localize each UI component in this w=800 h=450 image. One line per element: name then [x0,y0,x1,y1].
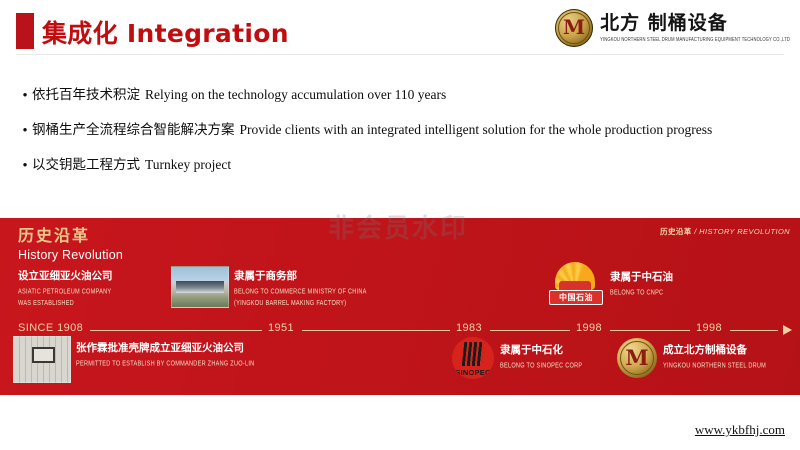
bullet-marker-icon: • [18,84,32,106]
list-item: • 以交钥匙工程方式Turnkey project [18,154,788,176]
page-title: 集成化 Integration [42,14,289,50]
milestone-title-en: BELONG TO SINOPEC CORP [500,361,582,372]
bullet-text-cn: 钢桶生产全流程综合智能解决方案 [32,122,235,138]
factory-photo-thumbnail [171,266,229,308]
milestone-en-line: WAS ESTABLISHED [18,298,113,309]
logo-company-cn: 北方 制桶设备 [600,14,790,34]
timeline-segment [610,330,690,331]
milestone-en-line: (YINGKOU BARREL MAKING FACTORY) [234,298,367,309]
logo-letter: M [563,17,585,37]
history-heading-cn: 历史沿革 [18,226,123,246]
logo-company-en: YINGKOU NORTHERN STEEL DRUM MANUFACTURIN… [600,36,790,43]
milestone-title-cn: 隶属于中石油 [610,271,673,285]
cnpc-wordmark: 中国石油 [549,290,603,305]
milestone-zhang-zuo-lin: 张作霖批准壳牌成立亚细亚火油公司 PERMITTED TO ESTABLISH … [76,342,254,367]
sinopec-wordmark: SINOPEC [452,369,494,377]
history-corner-en: HISTORY REVOLUTION [699,227,790,236]
milestone-en-line: BELONG TO CNPC [610,288,673,299]
timeline-year: SINCE 1908 [18,322,83,334]
history-corner-label: 历史沿革 / HISTORY REVOLUTION [660,226,790,237]
document-photo-thumbnail [13,336,71,383]
logo-medal-icon: M [555,9,593,47]
milestone-cnpc: 隶属于中石油 BELONG TO CNPC [610,271,673,296]
bullet-text: 以交钥匙工程方式Turnkey project [32,154,231,176]
timeline-segment [490,330,570,331]
milestone-en-line: BELONG TO SINOPEC CORP [500,361,582,372]
cnpc-logo-icon: 中国石油 [549,262,601,306]
milestone-title-cn: 隶属于商务部 [234,270,367,284]
title-accent-bar [16,13,34,49]
timeline-arrow-icon [783,325,792,335]
bullet-text-cn: 依托百年技术积淀 [32,87,140,103]
sinopec-bars-icon [462,342,485,366]
timeline-year: 1998 [576,322,602,334]
history-panel: 历史沿革 History Revolution 历史沿革 / HISTORY R… [0,218,800,395]
timeline-year: 1983 [456,322,482,334]
medal-letter: M [625,347,648,368]
milestone-en-line: PERMITTED TO ESTABLISH BY COMMANDER ZHAN… [76,359,254,370]
bullet-text-en: Relying on the technology accumulation o… [145,87,446,102]
list-item: • 依托百年技术积淀Relying on the technology accu… [18,84,788,106]
milestone-title-en: YINGKOU NORTHERN STEEL DRUM [663,361,766,372]
milestone-title-cn: 张作霖批准壳牌成立亚细亚火油公司 [76,342,254,356]
timeline-segment [90,330,262,331]
timeline-axis: SINCE 1908 1951 1983 1998 1998 [0,322,800,338]
milestone-title-en: PERMITTED TO ESTABLISH BY COMMANDER ZHAN… [76,359,254,370]
milestone-title-en: BELONG TO COMMERCE MINISTRY OF CHINA (YI… [234,287,367,309]
bullet-list: • 依托百年技术积淀Relying on the technology accu… [18,84,788,189]
bullet-marker-icon: • [18,154,32,176]
footer-url[interactable]: www.ykbfhj.com [695,422,785,438]
history-heading-en: History Revolution [18,247,123,264]
list-item: • 钢桶生产全流程综合智能解决方案Provide clients with an… [18,119,788,141]
milestone-en-line: ASIATIC PETROLEUM COMPANY [18,287,113,298]
timeline-segment [302,330,450,331]
bullet-text-en: Provide clients with an integrated intel… [240,122,713,137]
milestone-sinopec: 隶属于中石化 BELONG TO SINOPEC CORP [500,344,582,369]
timeline-year: 1951 [268,322,294,334]
bullet-marker-icon: • [18,119,32,141]
milestone-title-en: ASIATIC PETROLEUM COMPANY WAS ESTABLISHE… [18,287,113,309]
header-divider [16,54,784,55]
milestone-asiatic-petroleum: 设立亚细亚火油公司 ASIATIC PETROLEUM COMPANY WAS … [18,270,113,304]
timeline-segment [730,330,778,331]
company-logo: M 北方 制桶设备 YINGKOU NORTHERN STEEL DRUM MA… [555,6,790,50]
milestone-en-line: YINGKOU NORTHERN STEEL DRUM [663,361,766,372]
northern-medal-icon: M [617,338,657,378]
timeline-year: 1998 [696,322,722,334]
cnpc-wordmark-text: 中国石油 [559,294,593,302]
bullet-text-cn: 以交钥匙工程方式 [32,157,140,173]
sinopec-logo-icon: SINOPEC [452,337,494,379]
bullet-text: 钢桶生产全流程综合智能解决方案Provide clients with an i… [32,119,712,141]
logo-wordmark: 北方 制桶设备 YINGKOU NORTHERN STEEL DRUM MANU… [600,14,790,42]
milestone-title-en: BELONG TO CNPC [610,288,673,299]
bullet-text-en: Turnkey project [145,157,231,172]
milestone-title-cn: 设立亚细亚火油公司 [18,270,113,284]
milestone-commerce-ministry: 隶属于商务部 BELONG TO COMMERCE MINISTRY OF CH… [234,270,367,304]
slide-root: 集成化 Integration M 北方 制桶设备 YINGKOU NORTHE… [0,0,800,450]
history-corner-cn: 历史沿革 [660,227,692,236]
slide-header: 集成化 Integration M 北方 制桶设备 YINGKOU NORTHE… [0,0,800,60]
milestone-northern-steel-drum: 成立北方制桶设备 YINGKOU NORTHERN STEEL DRUM [663,344,766,369]
milestone-en-line: BELONG TO COMMERCE MINISTRY OF CHINA [234,287,367,298]
history-panel-heading: 历史沿革 History Revolution [18,226,123,264]
milestone-title-cn: 隶属于中石化 [500,344,582,358]
bullet-text: 依托百年技术积淀Relying on the technology accumu… [32,84,446,106]
milestone-title-cn: 成立北方制桶设备 [663,344,766,358]
